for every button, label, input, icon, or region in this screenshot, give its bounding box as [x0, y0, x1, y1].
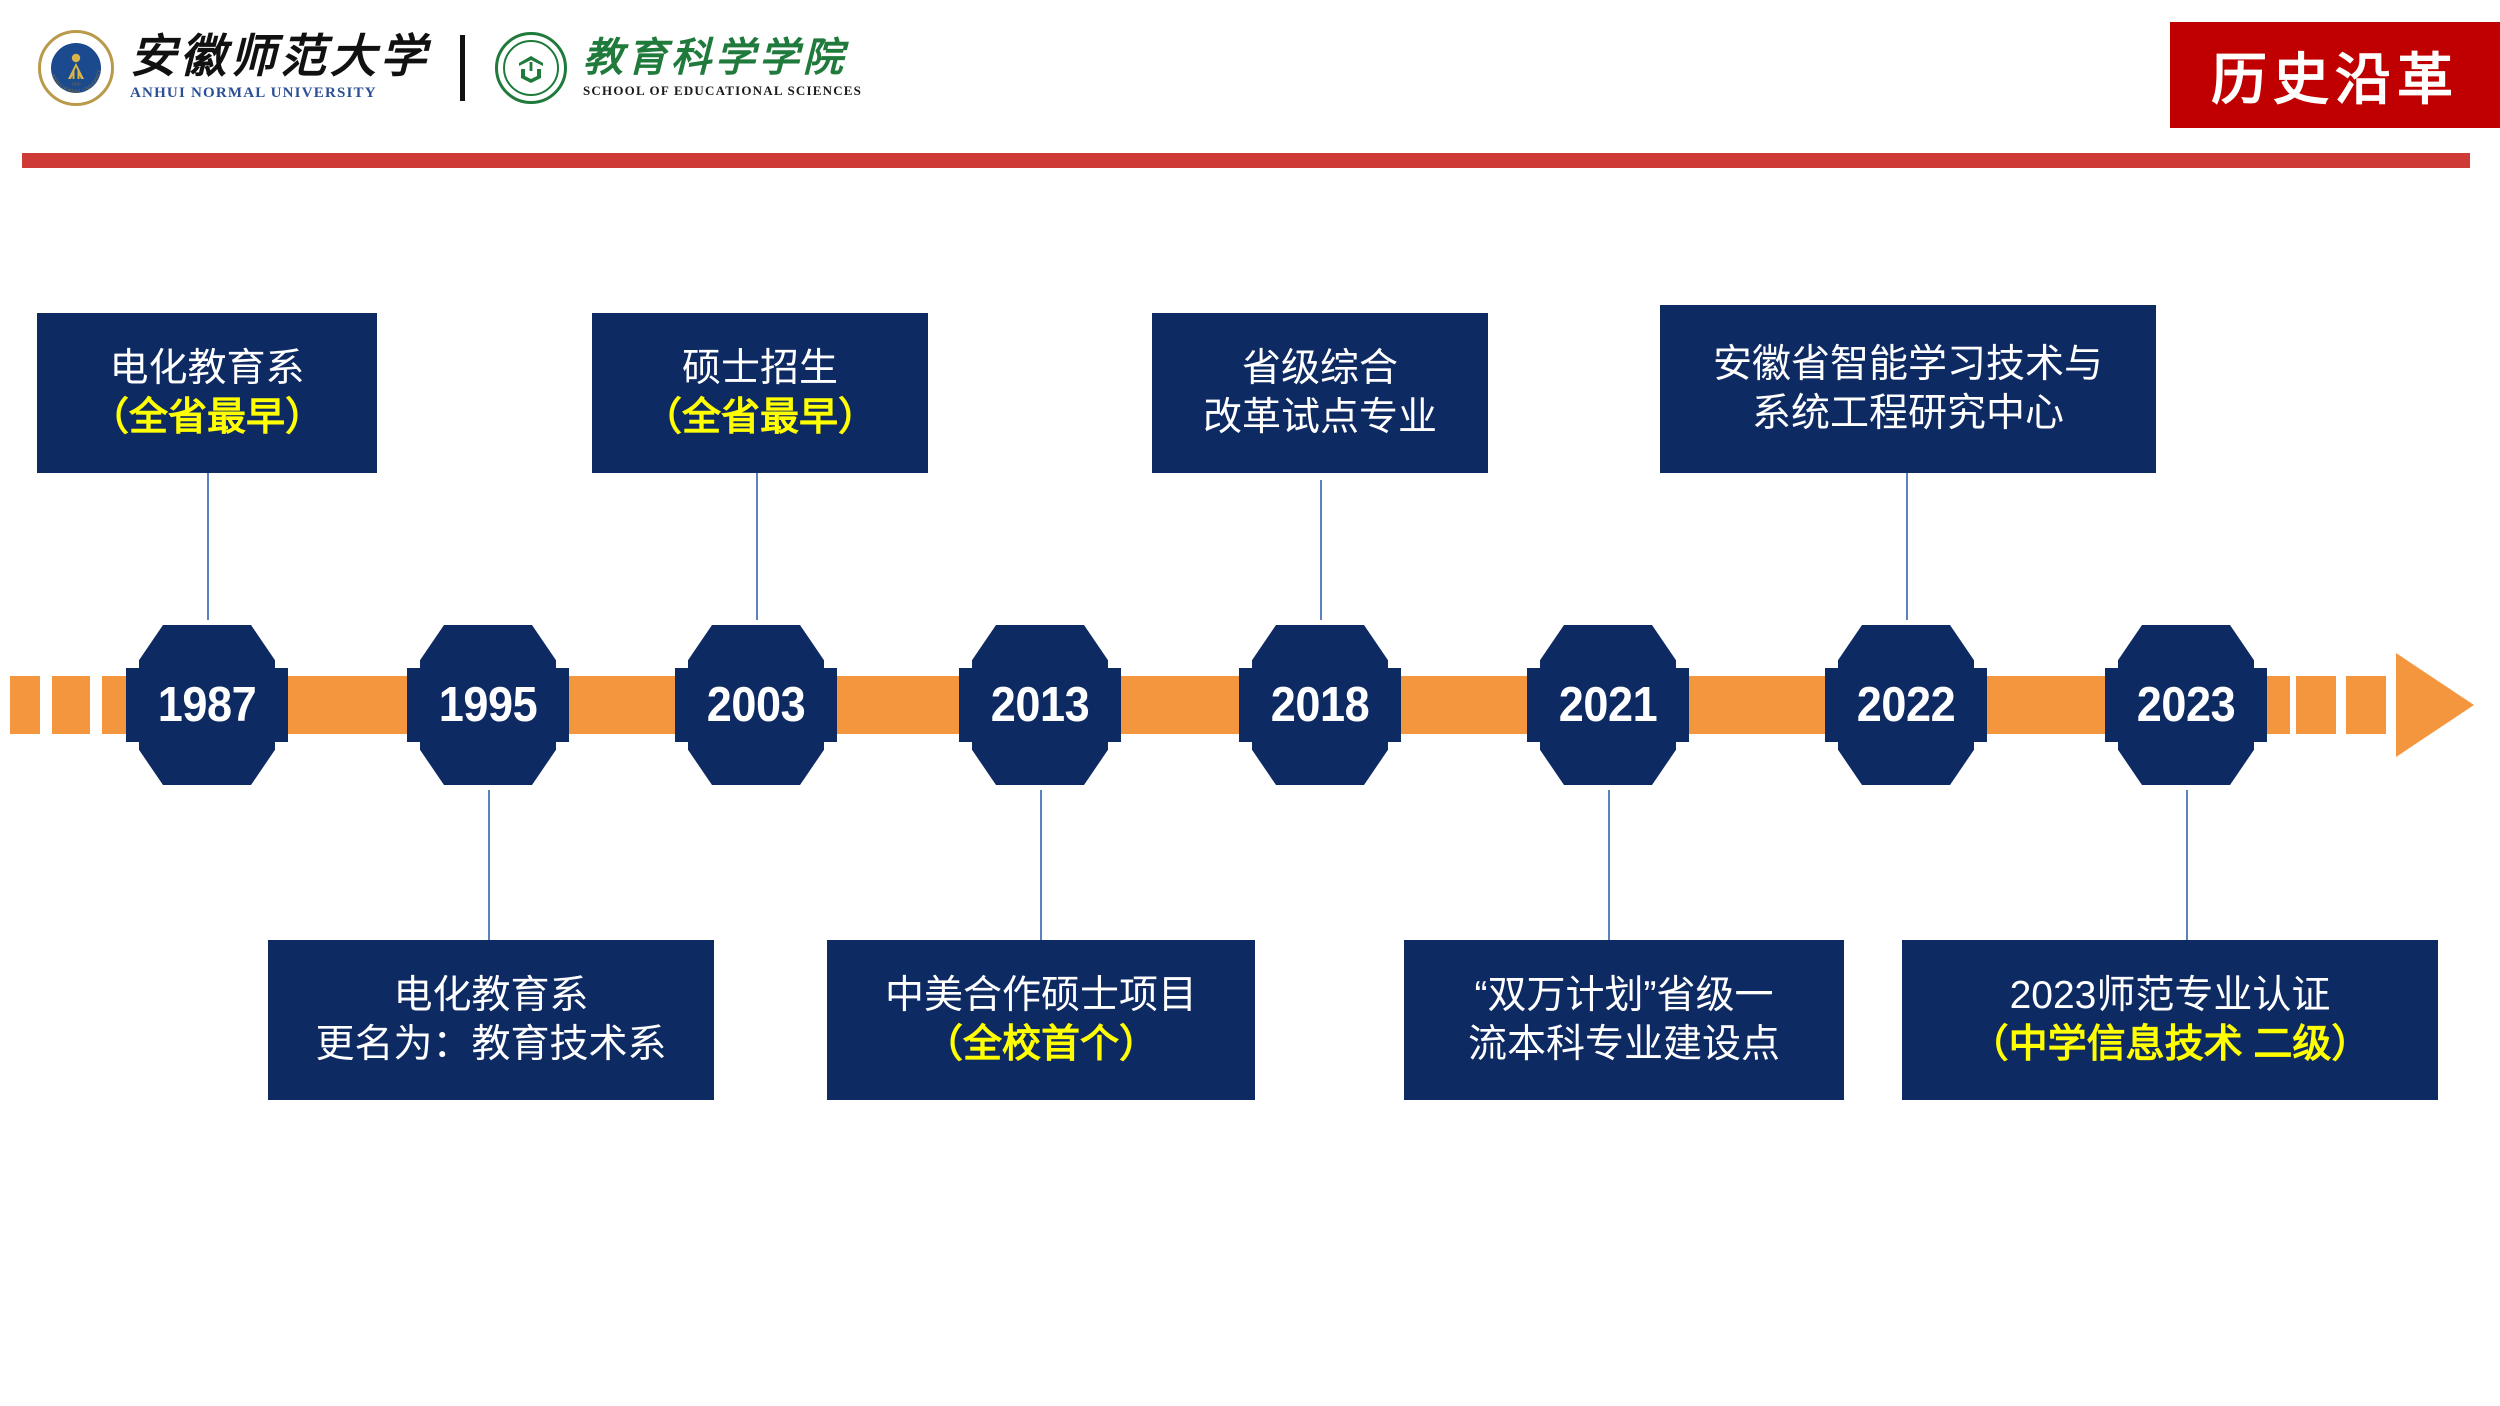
timeline-year-label: 2021	[1545, 625, 1670, 785]
callout-line: 电化教育系	[393, 971, 588, 1020]
timeline-year-label: 1987	[144, 625, 269, 785]
axis-dash-start-1	[10, 676, 40, 734]
callout-2023[interactable]: 2023师范专业认证 （中学信息技术 二级）	[1902, 940, 2438, 1100]
axis-dash-end-2	[2346, 676, 2386, 734]
connector-2021	[1608, 790, 1610, 950]
university-name-cn: 安徽师范大学	[130, 34, 430, 80]
callout-2022[interactable]: 安徽省智能学习技术与 系统工程研究中心	[1660, 305, 2156, 473]
callout-1995[interactable]: 电化教育系 更名为：教育技术系	[268, 940, 714, 1100]
callout-2013[interactable]: 中美合作硕士项目 （全校首个）	[827, 940, 1255, 1100]
school-name-en: SCHOOL OF EDUCATIONAL SCIENCES	[583, 83, 862, 99]
callout-2003[interactable]: 硕士招生 （全省最早）	[592, 313, 928, 473]
callout-line: “双万计划”省级一	[1475, 971, 1774, 1020]
callout-1987[interactable]: 电化教育系 （全省最早）	[37, 313, 377, 473]
callout-line: 安徽省智能学习技术与	[1713, 340, 2103, 389]
callout-line: 电化教育系	[109, 344, 304, 393]
callout-line: 2023师范专业认证	[2010, 971, 2331, 1020]
timeline-year-label: 2023	[2123, 625, 2248, 785]
callout-line: 改革试点专业	[1203, 393, 1437, 442]
timeline-marker-2021[interactable]: 2021	[1540, 625, 1676, 785]
callout-2021[interactable]: “双万计划”省级一 流本科专业建设点	[1404, 940, 1844, 1100]
timeline-marker-1987[interactable]: 1987	[139, 625, 275, 785]
callout-line: 更名为：教育技术系	[315, 1020, 666, 1069]
school-wordmark: 教育科学学院 SCHOOL OF EDUCATIONAL SCIENCES	[583, 38, 862, 99]
connector-2018	[1320, 480, 1322, 620]
connector-2022	[1906, 472, 1908, 620]
school-name-cn: 教育科学学院	[583, 38, 862, 78]
seal-school-glyph-icon	[513, 50, 549, 86]
callout-line-highlight: （全省最早）	[643, 393, 877, 442]
connector-2013	[1040, 790, 1042, 950]
page-header: ANHUI NORMAL UNIVERSITY 1928 安徽师范大学 ANHU…	[0, 0, 2500, 150]
timeline-year-label: 2018	[1257, 625, 1382, 785]
callout-line: 流本科专业建设点	[1468, 1020, 1780, 1069]
callout-line: 硕士招生	[682, 344, 838, 393]
connector-2023	[2186, 790, 2188, 950]
timeline-marker-2023[interactable]: 2023	[2118, 625, 2254, 785]
timeline-marker-2022[interactable]: 2022	[1838, 625, 1974, 785]
connector-1987	[207, 472, 209, 620]
callout-line: 省级综合	[1242, 344, 1398, 393]
timeline-marker-2013[interactable]: 2013	[972, 625, 1108, 785]
axis-dash-start-2	[52, 676, 90, 734]
callout-line-highlight: （全省最早）	[90, 393, 324, 442]
logo-divider	[460, 35, 465, 101]
axis-dash-end-1	[2296, 676, 2336, 734]
connector-2003	[756, 472, 758, 620]
university-wordmark: 安徽师范大学 ANHUI NORMAL UNIVERSITY	[130, 34, 430, 102]
seal-year: 1928	[71, 82, 81, 87]
header-divider-rule	[22, 153, 2470, 168]
callout-line-highlight: （中学信息技术 二级）	[1970, 1020, 2371, 1069]
timeline-year-label: 2022	[1843, 625, 1968, 785]
timeline-year-label: 2013	[977, 625, 1102, 785]
logo-group: ANHUI NORMAL UNIVERSITY 1928 安徽师范大学 ANHU…	[38, 18, 862, 118]
school-of-educational-sciences-seal-icon	[495, 32, 567, 104]
page-title: 历史沿革	[2211, 35, 2459, 116]
seal-ring-text-icon: ANHUI NORMAL UNIVERSITY 1928	[41, 33, 111, 103]
callout-line: 系统工程研究中心	[1752, 389, 2064, 438]
timeline-marker-2003[interactable]: 2003	[688, 625, 824, 785]
callout-2018[interactable]: 省级综合 改革试点专业	[1152, 313, 1488, 473]
timeline-marker-1995[interactable]: 1995	[420, 625, 556, 785]
university-name-en: ANHUI NORMAL UNIVERSITY	[130, 85, 430, 102]
axis-arrowhead	[2396, 653, 2474, 757]
anhui-normal-university-seal-icon: ANHUI NORMAL UNIVERSITY 1928	[38, 30, 114, 106]
callout-line: 中美合作硕士项目	[885, 971, 1197, 1020]
connector-1995	[488, 790, 490, 950]
timeline-marker-2018[interactable]: 2018	[1252, 625, 1388, 785]
timeline-year-label: 1995	[425, 625, 550, 785]
page-title-banner: 历史沿革	[2170, 22, 2500, 128]
timeline-year-label: 2003	[693, 625, 818, 785]
callout-line-highlight: （全校首个）	[924, 1020, 1158, 1069]
